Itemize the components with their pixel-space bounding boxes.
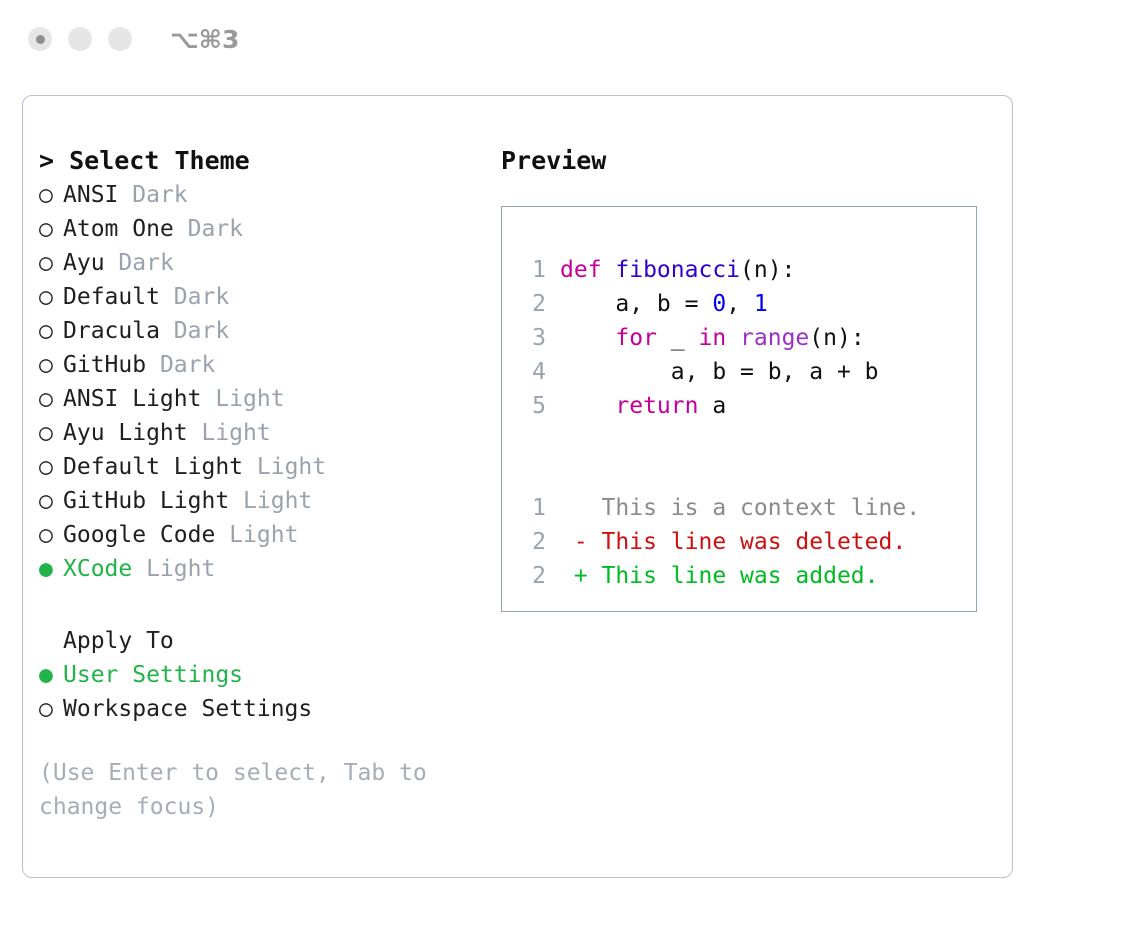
radio-unselected-icon: ○ [39, 280, 63, 314]
theme-option-label: Atom One [63, 216, 174, 242]
radio-unselected-icon: ○ [39, 518, 63, 552]
theme-list: ○ANSI Dark○Atom One Dark○Ayu Dark○Defaul… [39, 178, 489, 586]
diff-text: This line was added. [588, 563, 879, 589]
preview-title: Preview [501, 144, 991, 178]
diff-preview: 1 This is a context line.2 - This line w… [520, 491, 976, 593]
diff-line-del: 2 - This line was deleted. [520, 525, 976, 559]
code-token-kw: return [615, 393, 698, 419]
theme-variant-label: Light [201, 420, 270, 446]
window-dot-third-icon[interactable] [108, 27, 132, 51]
apply-to-option-workspace-settings[interactable]: ○Workspace Settings [39, 692, 489, 726]
code-token-num: 0 [712, 291, 726, 317]
theme-option-label: GitHub [63, 352, 146, 378]
theme-variant-label: Dark [118, 250, 173, 276]
radio-unselected-icon: ○ [39, 178, 63, 212]
code-line: 3 for _ in range(n): [520, 321, 976, 355]
line-number: 2 [520, 525, 546, 559]
apply-to-list: ●User Settings○Workspace Settings [39, 658, 489, 726]
theme-variant-label: Dark [188, 216, 243, 242]
theme-option-label: Ayu Light [63, 420, 188, 446]
diff-text: This line was deleted. [588, 529, 907, 555]
apply-to-option-user-settings[interactable]: ●User Settings [39, 658, 489, 692]
radio-unselected-icon: ○ [39, 450, 63, 484]
apply-to-option-label: User Settings [63, 662, 243, 688]
code-token-pl: , [726, 291, 754, 317]
code-line: 2 a, b = 0, 1 [520, 287, 976, 321]
code-token-kw: in [698, 325, 726, 351]
code-token-pl: a [698, 393, 726, 419]
theme-variant-label: Light [257, 454, 326, 480]
diff-text: This is a context line. [588, 495, 920, 521]
theme-option-default[interactable]: ○Default Dark [39, 280, 489, 314]
theme-variant-label: Dark [160, 352, 215, 378]
apply-to-option-label: Workspace Settings [63, 696, 312, 722]
theme-option-atom-one[interactable]: ○Atom One Dark [39, 212, 489, 246]
line-number: 2 [520, 559, 546, 593]
line-number: 1 [520, 253, 546, 287]
code-line: 5 return a [520, 389, 976, 423]
theme-variant-label: Dark [132, 182, 187, 208]
code-token-pl [726, 325, 740, 351]
apply-to-label: Apply To [39, 624, 489, 658]
theme-option-label: ANSI [63, 182, 118, 208]
theme-option-ansi-light[interactable]: ○ANSI Light Light [39, 382, 489, 416]
theme-option-label: GitHub Light [63, 488, 229, 514]
theme-option-ayu-light[interactable]: ○Ayu Light Light [39, 416, 489, 450]
radio-unselected-icon: ○ [39, 314, 63, 348]
theme-option-label: Google Code [63, 522, 215, 548]
theme-variant-label: Dark [174, 318, 229, 344]
theme-option-default-light[interactable]: ○Default Light Light [39, 450, 489, 484]
theme-option-ansi[interactable]: ○ANSI Dark [39, 178, 489, 212]
preview-box: 1def fibonacci(n):2 a, b = 0, 13 for _ i… [501, 206, 977, 612]
code-token-bi: range [740, 325, 809, 351]
radio-unselected-icon: ○ [39, 692, 63, 726]
code-token-pl: (n): [809, 325, 864, 351]
theme-option-github-light[interactable]: ○GitHub Light Light [39, 484, 489, 518]
theme-option-label: Default [63, 284, 160, 310]
keyboard-hint-text: (Use Enter to select, Tab to change focu… [39, 756, 459, 824]
line-number: 1 [520, 491, 546, 525]
keyboard-shortcut-label: ⌥⌘3 [170, 25, 239, 54]
code-preview: 1def fibonacci(n):2 a, b = 0, 13 for _ i… [520, 253, 976, 423]
diff-line-add: 2 + This line was added. [520, 559, 976, 593]
diff-sign: - [560, 529, 588, 555]
theme-option-label: Dracula [63, 318, 160, 344]
diff-sign: + [560, 563, 588, 589]
radio-selected-icon: ● [39, 552, 63, 586]
radio-unselected-icon: ○ [39, 382, 63, 416]
radio-unselected-icon: ○ [39, 212, 63, 246]
theme-option-label: Ayu [63, 250, 105, 276]
theme-selector-panel: > Select Theme ○ANSI Dark○Atom One Dark○… [22, 95, 1013, 878]
app-window: ⌥⌘3 > Select Theme ○ANSI Dark○Atom One D… [0, 0, 1140, 934]
code-token-pl: (n): [740, 257, 795, 283]
radio-unselected-icon: ○ [39, 484, 63, 518]
radio-unselected-icon: ○ [39, 348, 63, 382]
code-token-kw: def [560, 257, 615, 283]
code-token-pl [560, 325, 615, 351]
theme-option-xcode[interactable]: ●XCode Light [39, 552, 489, 586]
code-line: 1def fibonacci(n): [520, 253, 976, 287]
preview-column: Preview 1def fibonacci(n):2 a, b = 0, 13… [501, 144, 991, 612]
diff-sign [560, 495, 588, 521]
theme-variant-label: Dark [174, 284, 229, 310]
title-bar: ⌥⌘3 [0, 0, 1140, 78]
code-token-pl [560, 393, 615, 419]
code-token-num: 1 [754, 291, 768, 317]
code-token-pl: a, b = b, a + b [560, 359, 879, 385]
radio-unselected-icon: ○ [39, 246, 63, 280]
code-token-pl: _ [657, 325, 699, 351]
theme-option-google-code[interactable]: ○Google Code Light [39, 518, 489, 552]
theme-option-label: ANSI Light [63, 386, 201, 412]
theme-option-ayu[interactable]: ○Ayu Dark [39, 246, 489, 280]
theme-variant-label: Light [146, 556, 215, 582]
code-token-kw: for [615, 325, 657, 351]
theme-variant-label: Light [243, 488, 312, 514]
theme-option-label: XCode [63, 556, 132, 582]
theme-list-column: > Select Theme ○ANSI Dark○Atom One Dark○… [39, 144, 489, 824]
theme-variant-label: Light [229, 522, 298, 548]
line-number: 4 [520, 355, 546, 389]
theme-variant-label: Light [215, 386, 284, 412]
code-token-fn: fibonacci [615, 257, 740, 283]
window-dot-active-icon[interactable] [28, 27, 52, 51]
radio-unselected-icon: ○ [39, 416, 63, 450]
line-number: 2 [520, 287, 546, 321]
line-number: 5 [520, 389, 546, 423]
code-token-pl: a, b = [560, 291, 712, 317]
code-line: 4 a, b = b, a + b [520, 355, 976, 389]
line-number: 3 [520, 321, 546, 355]
radio-selected-icon: ● [39, 658, 63, 692]
theme-option-label: Default Light [63, 454, 243, 480]
window-dot-second-icon[interactable] [68, 27, 92, 51]
theme-option-dracula[interactable]: ○Dracula Dark [39, 314, 489, 348]
select-theme-heading: > Select Theme [39, 144, 489, 178]
theme-option-github[interactable]: ○GitHub Dark [39, 348, 489, 382]
diff-line-ctx: 1 This is a context line. [520, 491, 976, 525]
